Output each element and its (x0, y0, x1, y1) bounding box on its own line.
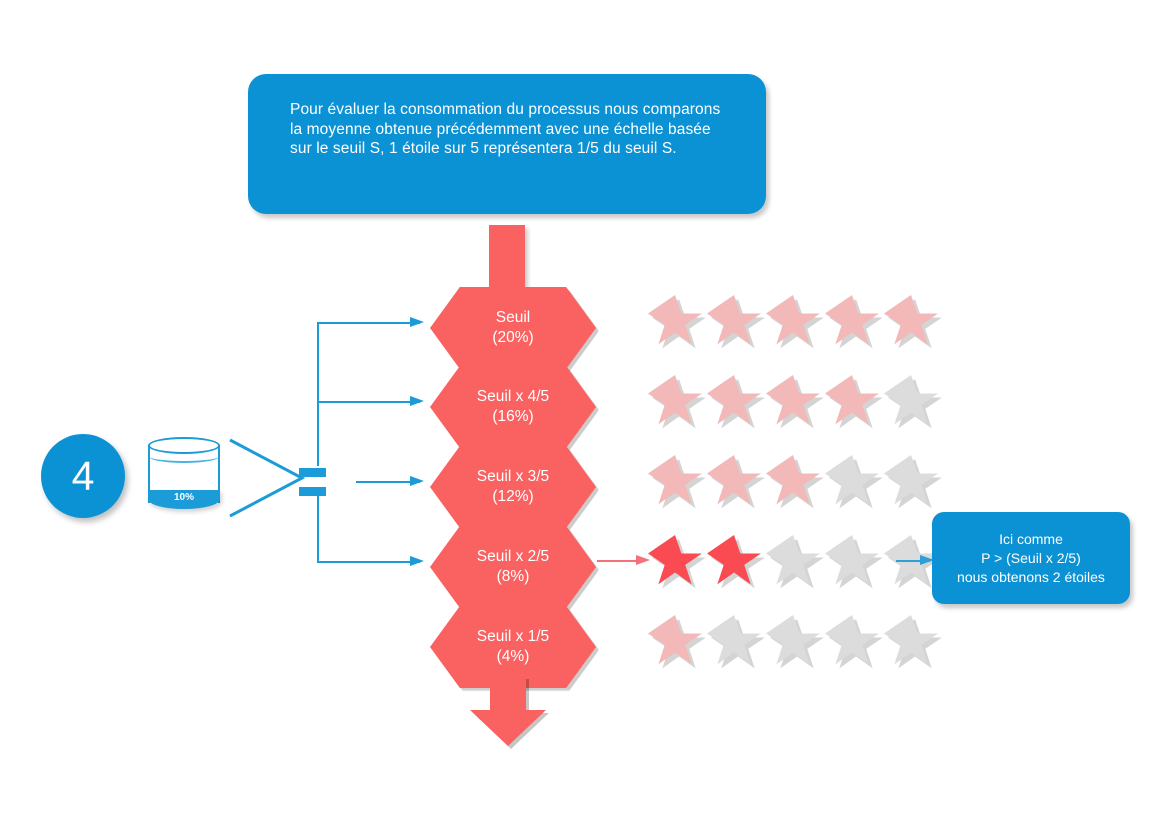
cylinder-top-ellipse (148, 437, 220, 454)
threshold-hexagon-3: Seuil x 3/5 (12%) (430, 446, 596, 528)
step-number-badge: 4 (41, 434, 125, 518)
connector-branch-row-4 (317, 561, 420, 563)
explanation-callout: Pour évaluer la consommation du processu… (248, 74, 766, 214)
threshold-hexagon-5-value: (4%) (497, 647, 530, 667)
measured-value-cylinder: 10% (148, 437, 220, 513)
explanation-callout-text: Pour évaluer la consommation du processu… (290, 100, 736, 159)
flow-stem-top (489, 225, 525, 287)
greater-than-chevron-icon (228, 436, 310, 520)
result-arrowhead (636, 553, 652, 569)
threshold-hexagon-3-value: (12%) (492, 487, 533, 507)
threshold-hexagon-1: Seuil (20%) (430, 287, 596, 369)
threshold-hexagon-1-title: Seuil (496, 308, 530, 328)
connector-arrowhead-row-1 (410, 315, 426, 331)
result-callout-text: Ici comme P > (Seuil x 2/5) nous obtenon… (957, 530, 1105, 587)
equals-sign-top-bar (299, 468, 326, 477)
equals-sign-bottom-bar (299, 487, 326, 496)
flow-arrow-bottom-head (470, 710, 546, 746)
diagram-canvas: Pour évaluer la consommation du processu… (0, 0, 1169, 825)
threshold-hexagon-2-value: (16%) (492, 407, 533, 427)
step-number-label: 4 (72, 456, 95, 497)
connector-arrowhead-row-3 (410, 474, 426, 490)
threshold-hexagon-5-title: Seuil x 1/5 (477, 627, 549, 647)
flow-arrow-bottom-shaft (490, 676, 526, 712)
connector-branch-row-2 (317, 401, 420, 403)
connector-arrowhead-row-2 (410, 394, 426, 410)
threshold-hexagon-4: Seuil x 2/5 (8%) (430, 526, 596, 608)
result-callout: Ici comme P > (Seuil x 2/5) nous obtenon… (932, 512, 1130, 604)
threshold-hexagon-2-title: Seuil x 4/5 (477, 387, 549, 407)
connector-arrowhead-row-4 (410, 554, 426, 570)
threshold-hexagon-1-value: (20%) (492, 328, 533, 348)
threshold-hexagon-3-title: Seuil x 3/5 (477, 467, 549, 487)
connector-trunk-upper (317, 322, 319, 466)
connector-branch-row-1 (317, 322, 420, 324)
threshold-hexagon-4-title: Seuil x 2/5 (477, 547, 549, 567)
connector-trunk-lower (317, 492, 319, 563)
threshold-hexagon-4-value: (8%) (497, 567, 530, 587)
cylinder-fill-label: 10% (148, 492, 220, 503)
flow-arrow-bottom (470, 676, 546, 746)
threshold-hexagon-2: Seuil x 4/5 (16%) (430, 366, 596, 448)
